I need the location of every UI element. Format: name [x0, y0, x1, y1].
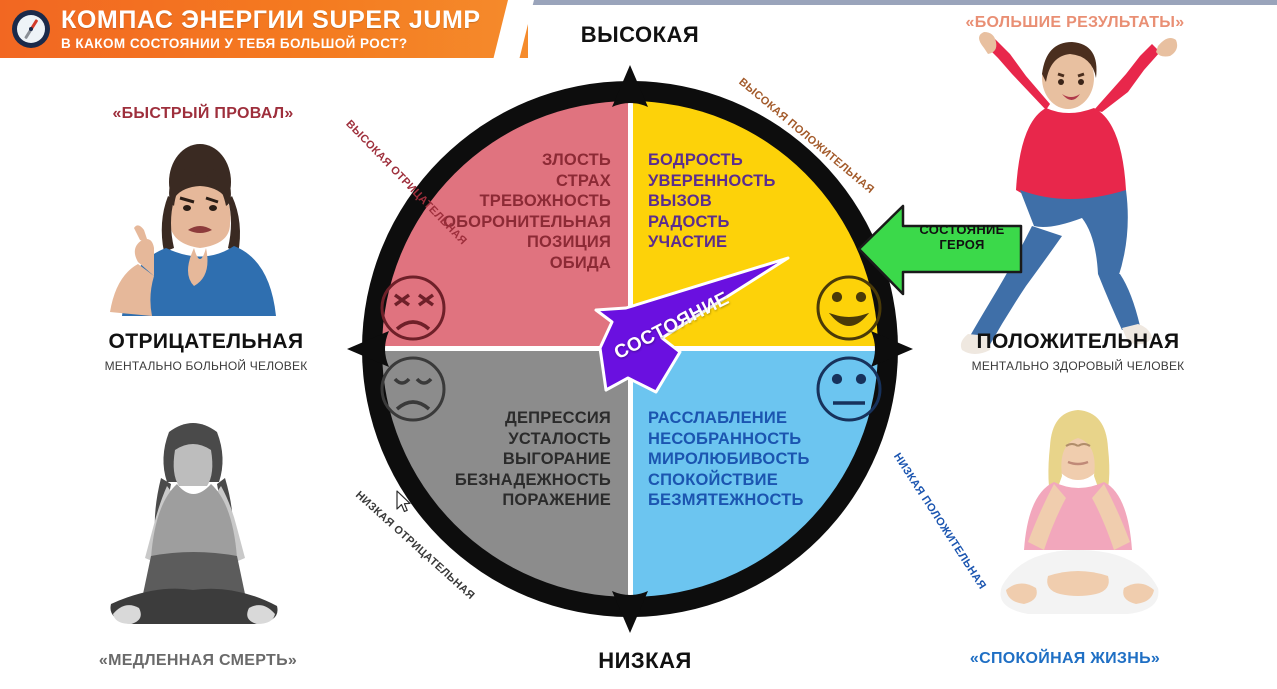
energy-compass-infographic: КОМПАС ЭНЕРГИИ SUPER JUMP В КАКОМ СОСТОЯ… — [0, 0, 1277, 689]
green-arrow-label-line1: СОСТОЯНИЕ — [907, 222, 1017, 237]
purple-state-arrow: СОСТОЯНИЕ — [592, 252, 807, 397]
quadrant-low-negative-items: ДЕПРЕССИЯ УСТАЛОСТЬ ВЫГОРАНИЕ БЕЗНАДЕЖНО… — [443, 408, 611, 511]
axis-negative-title: ОТРИЦАТЕЛЬНАЯ — [62, 330, 350, 354]
axis-label-negative: ОТРИЦАТЕЛЬНАЯ МЕНТАЛЬНО БОЛЬНОЙ ЧЕЛОВЕК — [62, 330, 350, 373]
compass-icon — [12, 10, 50, 48]
banner-subtitle: В КАКОМ СОСТОЯНИИ У ТЕБЯ БОЛЬШОЙ РОСТ? — [61, 37, 481, 51]
item: ОБОРОНИТЕЛЬНАЯ — [443, 212, 611, 233]
item: УСТАЛОСТЬ — [443, 429, 611, 450]
item: ОБИДА — [443, 253, 611, 274]
axis-positive-title: ПОЛОЖИТЕЛЬНАЯ — [928, 330, 1228, 354]
green-arrow-label: СОСТОЯНИЕ ГЕРОЯ — [907, 222, 1017, 252]
axis-label-high: ВЫСОКАЯ — [540, 22, 740, 48]
caption-big-results: «БОЛЬШИЕ РЕЗУЛЬТАТЫ» — [925, 14, 1225, 32]
item: УЧАСТИЕ — [648, 232, 838, 253]
axis-positive-subtitle: МЕНТАЛЬНО ЗДОРОВЫЙ ЧЕЛОВЕК — [928, 359, 1228, 373]
item: СПОКОЙСТВИЕ — [648, 470, 843, 491]
depressed-woman-photo — [95, 408, 293, 640]
item: НЕСОБРАННОСТЬ — [648, 429, 843, 450]
item: ЗЛОСТЬ — [443, 150, 611, 171]
caption-fast-failure: «БЫСТРЫЙ ПРОВАЛ» — [58, 105, 348, 123]
item: РАДОСТЬ — [648, 212, 838, 233]
header-banner: КОМПАС ЭНЕРГИИ SUPER JUMP В КАКОМ СОСТОЯ… — [0, 0, 528, 58]
item: БЕЗНАДЕЖНОСТЬ — [443, 470, 611, 491]
item: СТРАХ — [443, 171, 611, 192]
item: РАССЛАБЛЕНИЕ — [648, 408, 843, 429]
quadrant-low-positive-items: РАССЛАБЛЕНИЕ НЕСОБРАННОСТЬ МИРОЛЮБИВОСТЬ… — [648, 408, 843, 511]
item: ВЫЗОВ — [648, 191, 838, 212]
green-arrow-label-line2: ГЕРОЯ — [907, 237, 1017, 252]
item: ВЫГОРАНИЕ — [443, 449, 611, 470]
item: МИРОЛЮБИВОСТЬ — [648, 449, 843, 470]
quadrant-high-positive-items: БОДРОСТЬ УВЕРЕННОСТЬ ВЫЗОВ РАДОСТЬ УЧАСТ… — [648, 150, 838, 253]
axis-negative-subtitle: МЕНТАЛЬНО БОЛЬНОЙ ЧЕЛОВЕК — [62, 359, 350, 373]
meditating-woman-photo — [962, 400, 1192, 640]
axis-label-positive: ПОЛОЖИТЕЛЬНАЯ МЕНТАЛЬНО ЗДОРОВЫЙ ЧЕЛОВЕК — [928, 330, 1228, 373]
axis-label-low: НИЗКАЯ — [545, 648, 745, 674]
item: ТРЕВОЖНОСТЬ — [443, 191, 611, 212]
item: УВЕРЕННОСТЬ — [648, 171, 838, 192]
item: ПОРАЖЕНИЕ — [443, 490, 611, 511]
caption-slow-death: «МЕДЛЕННАЯ СМЕРТЬ» — [48, 652, 348, 670]
angry-woman-photo — [108, 136, 280, 316]
banner-title: КОМПАС ЭНЕРГИИ SUPER JUMP — [61, 8, 481, 33]
item: ПОЗИЦИЯ — [443, 232, 611, 253]
quadrant-high-negative-items: ЗЛОСТЬ СТРАХ ТРЕВОЖНОСТЬ ОБОРОНИТЕЛЬНАЯ … — [443, 150, 611, 273]
caption-calm-life: «СПОКОЙНАЯ ЖИЗНЬ» — [915, 650, 1215, 668]
jumping-woman-photo — [950, 30, 1192, 360]
green-hero-arrow: СОСТОЯНИЕ ГЕРОЯ — [855, 196, 1025, 302]
item: БОДРОСТЬ — [648, 150, 838, 171]
item: БЕЗМЯТЕЖНОСТЬ — [648, 490, 843, 511]
bottom-edge-strip — [0, 684, 1277, 689]
item: ДЕПРЕССИЯ — [443, 408, 611, 429]
mouse-pointer — [396, 490, 412, 514]
